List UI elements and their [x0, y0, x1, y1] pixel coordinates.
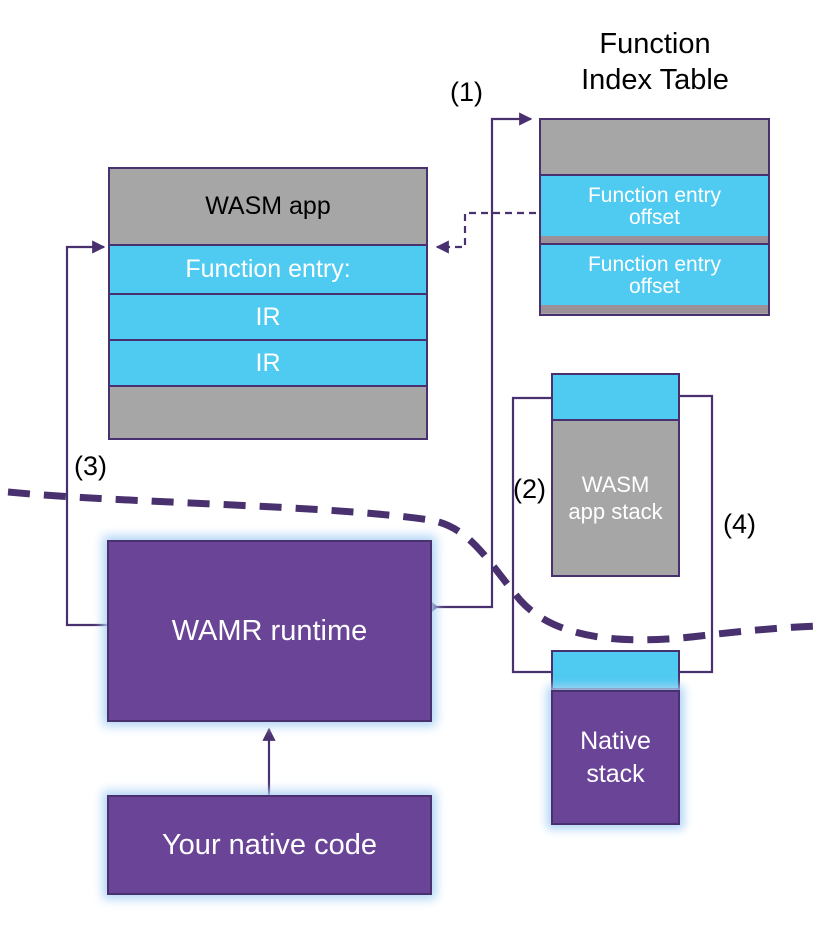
- sandbox-boundary-dashed-curve: [0, 0, 819, 925]
- diagram-canvas: Function Index Table Function entry offs…: [0, 0, 819, 925]
